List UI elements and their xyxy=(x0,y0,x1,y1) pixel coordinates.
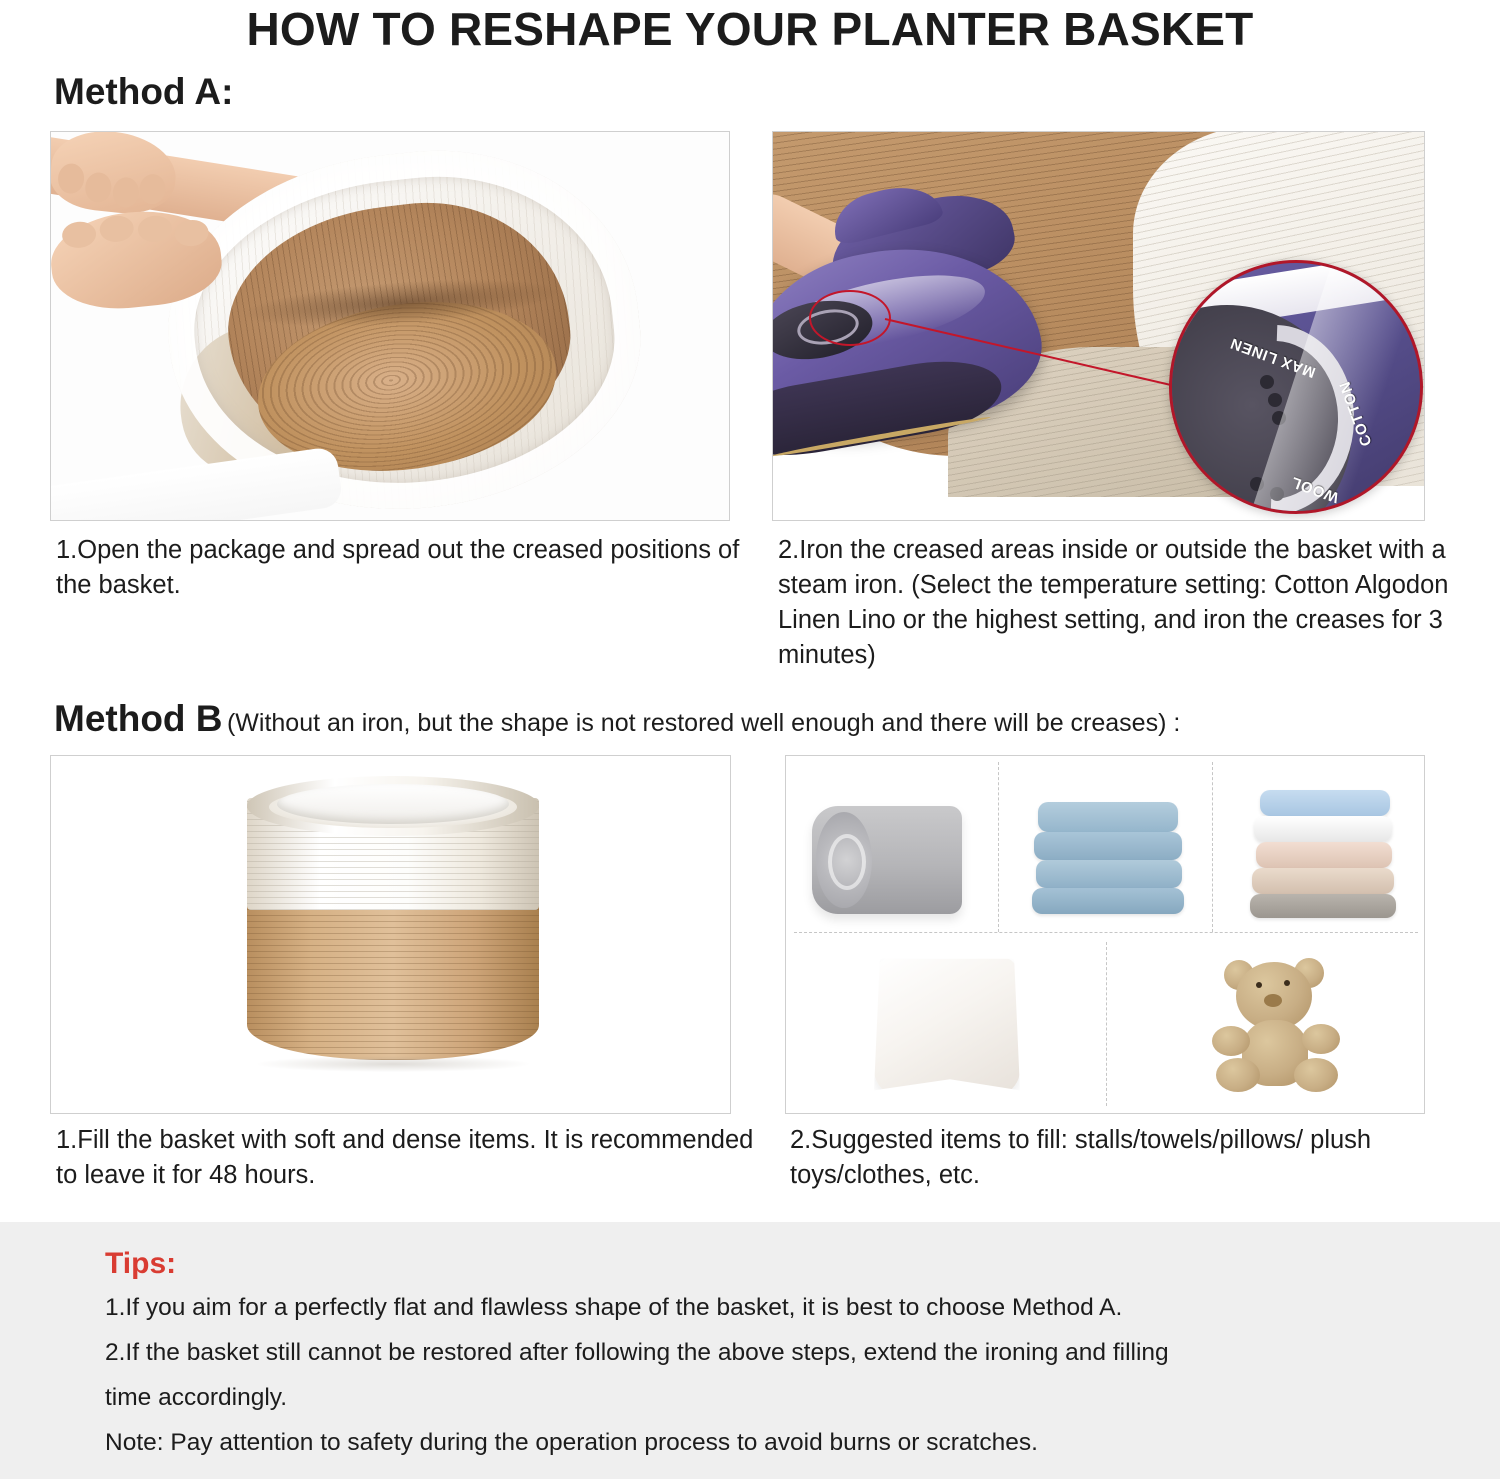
white-fabric-fill xyxy=(277,784,509,824)
bear-muzzle xyxy=(1264,994,1282,1007)
tips-note-line: Note: Pay attention to safety during the… xyxy=(105,1428,1038,1458)
grid-divider-v3 xyxy=(1106,942,1107,1106)
grid-divider-h1 xyxy=(794,932,1418,933)
bear-arm-left xyxy=(1212,1026,1250,1056)
method-b-heading: Method B (Without an iron, but the shape… xyxy=(54,698,1180,740)
hands-spreading-basket-image xyxy=(51,132,729,520)
method-b-heading-note: (Without an iron, but the shape is not r… xyxy=(227,709,1180,737)
bear-eye-right xyxy=(1284,980,1290,986)
magnified-dial-callout: MAX LINEN COTTON WOOL xyxy=(1169,260,1423,514)
method-b-step-1-photo xyxy=(50,755,731,1114)
method-a-step-2-photo: MAX LINEN COTTON WOOL xyxy=(772,131,1425,521)
method-a-step-2-caption: 2.Iron the creased areas inside or outsi… xyxy=(778,533,1458,673)
filled-rope-basket-image xyxy=(51,756,730,1113)
grid-divider-v2 xyxy=(1212,762,1213,932)
method-b-step-1-caption: 1.Fill the basket with soft and dense it… xyxy=(56,1123,756,1193)
blanket-roll-end xyxy=(816,812,872,908)
method-a-step-1-caption: 1.Open the package and spread out the cr… xyxy=(56,533,746,603)
squeezed-basket xyxy=(169,154,639,509)
infographic-page: HOW TO RESHAPE YOUR PLANTER BASKET Metho… xyxy=(0,0,1500,1479)
tips-line-2-continued: time accordingly. xyxy=(105,1383,287,1413)
tips-line-1: 1.If you aim for a perfectly flat and fl… xyxy=(105,1293,1122,1323)
item-rolled-blanket xyxy=(794,764,994,928)
method-a-heading-label: Method A: xyxy=(54,71,233,112)
item-pillow xyxy=(794,942,1100,1106)
linen-stack xyxy=(1250,790,1396,916)
bear-leg-right xyxy=(1294,1058,1338,1092)
bear-arm-right xyxy=(1302,1024,1340,1054)
method-b-step-2-photo xyxy=(785,755,1425,1114)
tips-line-2: 2.If the basket still cannot be restored… xyxy=(105,1338,1169,1368)
basket-drop-shadow xyxy=(257,1056,529,1072)
rolled-blanket-shape xyxy=(812,806,962,914)
item-folded-linens xyxy=(1222,764,1418,928)
bear-eye-left xyxy=(1256,982,1262,988)
method-b-step-2-caption: 2.Suggested items to fill: stalls/towels… xyxy=(790,1123,1450,1193)
steam-iron-on-basket-image: MAX LINEN COTTON WOOL xyxy=(773,132,1424,520)
method-b-heading-label: Method B xyxy=(54,698,223,739)
item-teddy-bear xyxy=(1116,942,1418,1106)
grid-divider-v1 xyxy=(998,762,999,932)
item-folded-towels xyxy=(1008,764,1208,928)
tips-title: Tips: xyxy=(105,1247,176,1281)
method-a-step-1-photo xyxy=(50,131,730,521)
suggested-items-grid xyxy=(786,756,1424,1113)
callout-source-circle xyxy=(809,290,891,346)
rope-basket xyxy=(247,786,539,1074)
bear-leg-left xyxy=(1216,1058,1260,1092)
method-a-heading: Method A: xyxy=(54,71,233,113)
teddy-bear-shape xyxy=(1208,954,1358,1100)
white-pillow-shape xyxy=(874,956,1020,1096)
blue-towel-stack xyxy=(1032,802,1182,912)
page-title: HOW TO RESHAPE YOUR PLANTER BASKET xyxy=(0,2,1500,56)
